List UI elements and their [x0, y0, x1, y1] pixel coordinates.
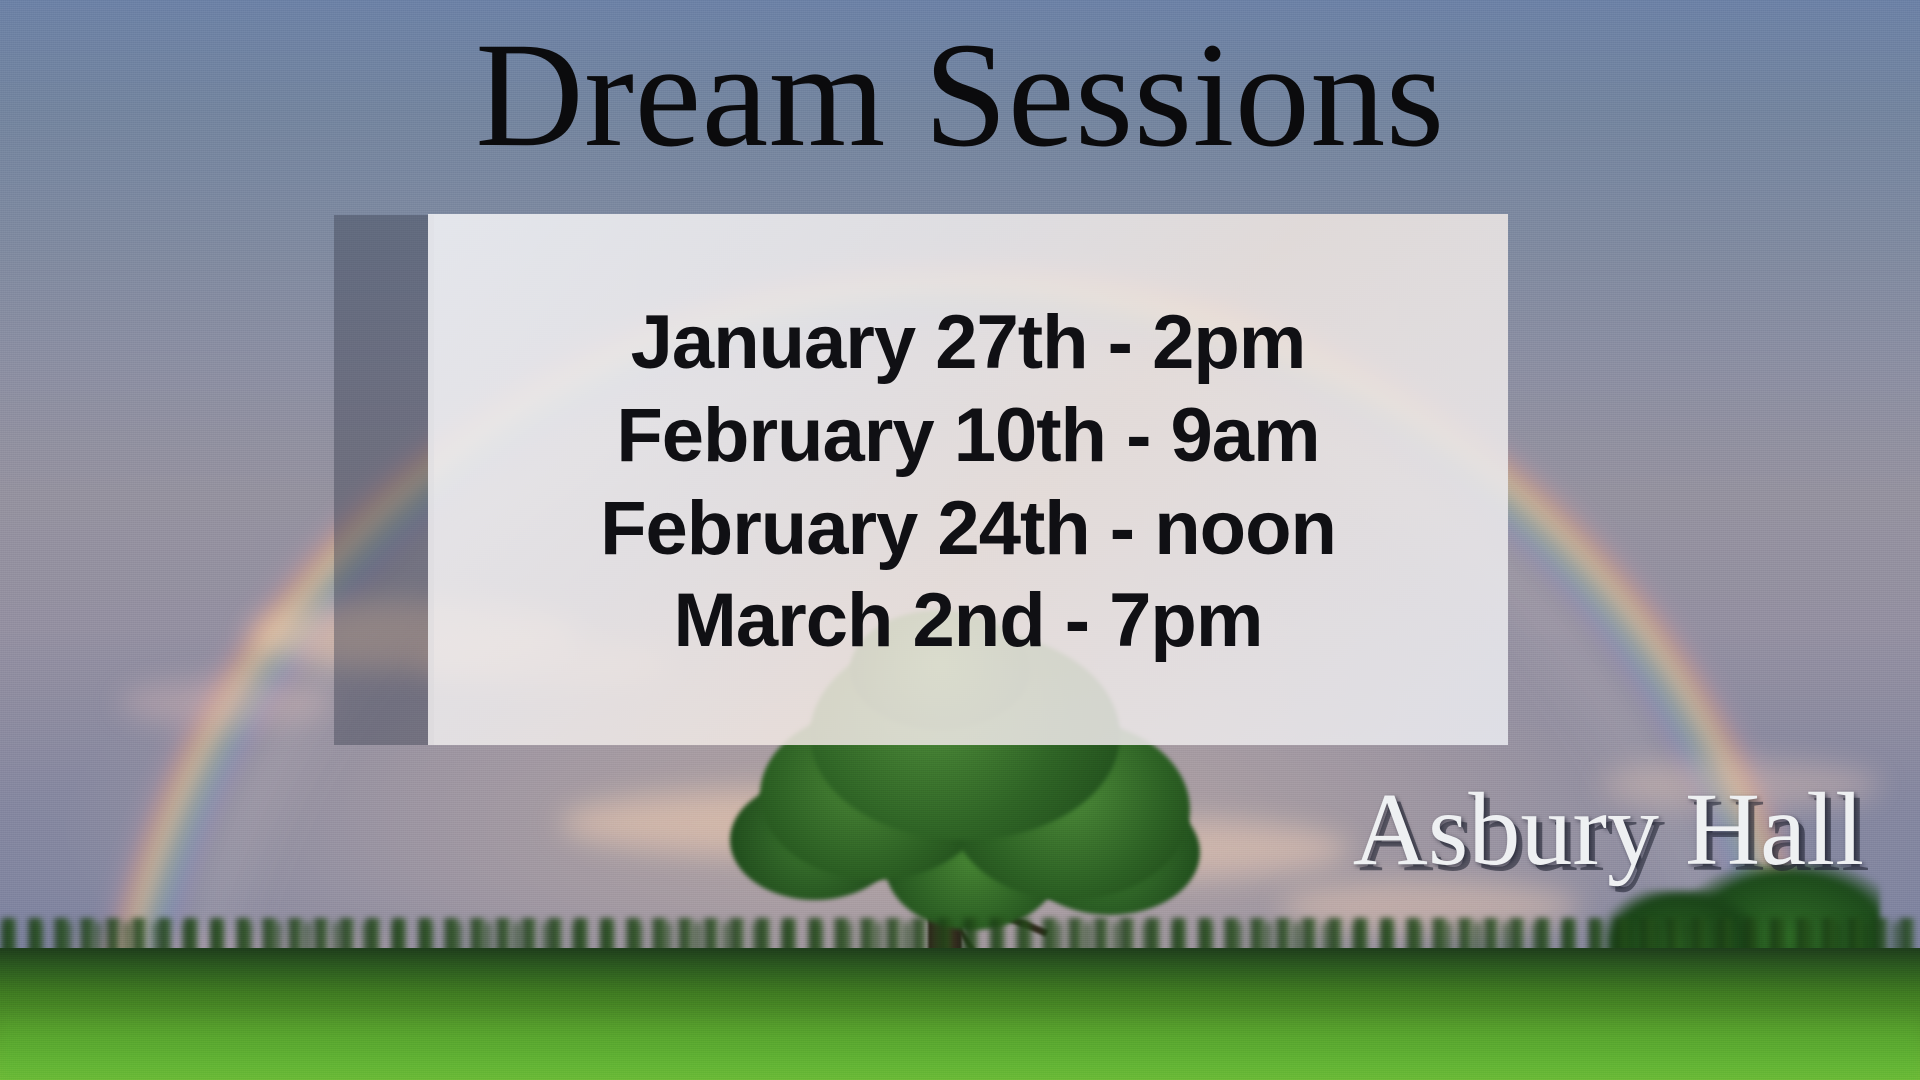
session-item: March 2nd - 7pm — [674, 575, 1263, 668]
session-item: February 24th - noon — [600, 483, 1336, 576]
grass-field — [0, 948, 1920, 1080]
session-list-panel: January 27th - 2pm February 10th - 9am F… — [428, 214, 1508, 745]
slide-canvas: Dream Sessions January 27th - 2pm Februa… — [0, 0, 1920, 1080]
grass-foreground-blur — [0, 1010, 1920, 1080]
page-title: Dream Sessions — [0, 20, 1920, 170]
session-item: January 27th - 2pm — [631, 297, 1306, 390]
cloud — [120, 680, 330, 726]
session-item: February 10th - 9am — [616, 390, 1319, 483]
venue-label: Asbury Hall — [1353, 778, 1864, 882]
panel-backdrop-strip — [334, 215, 434, 745]
